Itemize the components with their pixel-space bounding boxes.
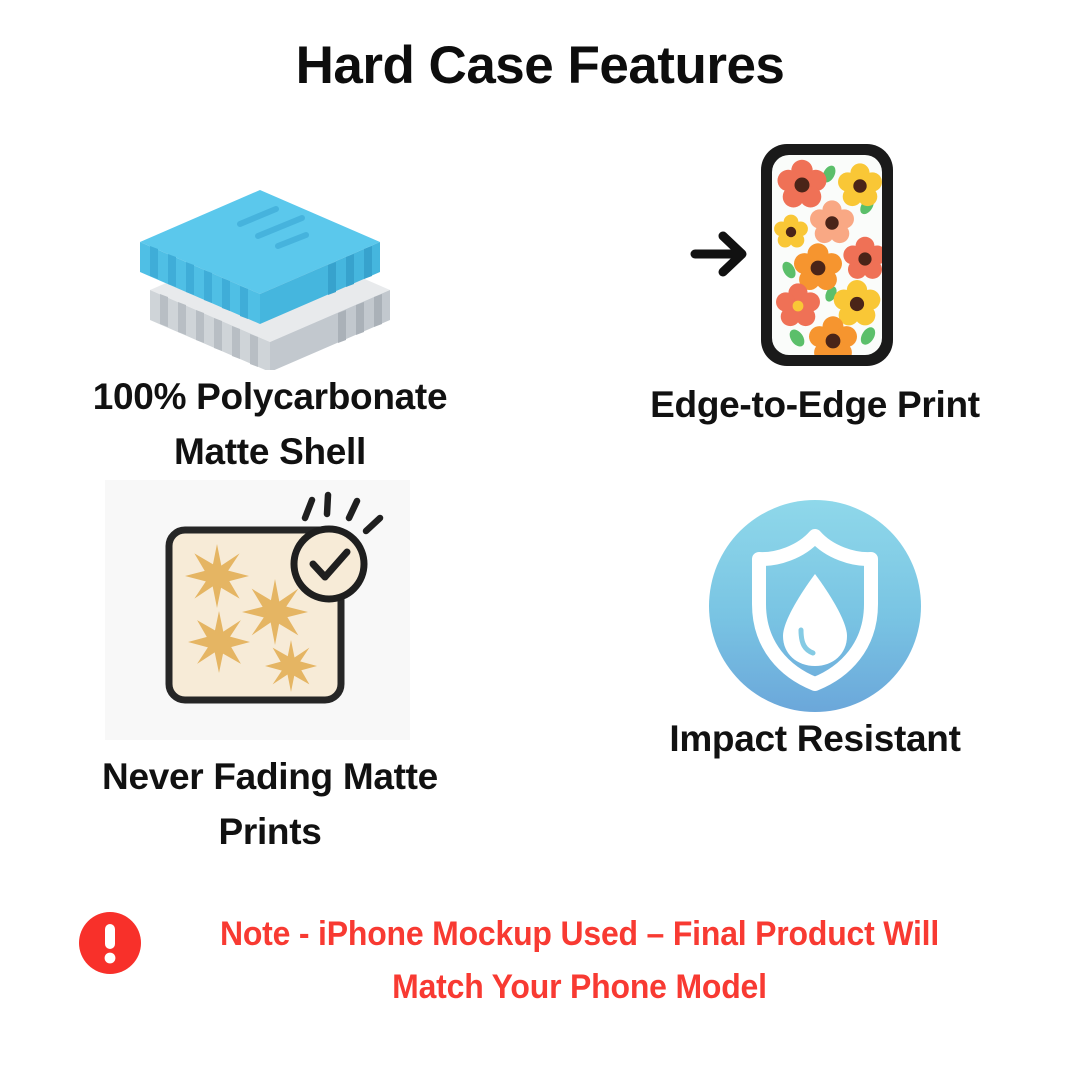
badge-rays [305,495,380,531]
check-badge-icon [294,495,380,599]
feature-never-fading-label-line1: Never Fading Matte [20,750,520,805]
feature-never-fading: Never Fading Matte Prints [20,470,520,860]
feature-polycarbonate-label: 100% Polycarbonate Matte Shell [20,370,520,480]
shield-droplet-icon [709,500,921,712]
note-row: Note - iPhone Mockup Used – Final Produc… [60,908,1020,1013]
layered-slabs-icon [120,150,420,370]
exclamation-circle-icon [79,912,141,974]
note-text: Note - iPhone Mockup Used – Final Produc… [182,908,976,1013]
feature-edge-print-art [570,128,1060,378]
feature-edge-print-label: Edge-to-Edge Print [570,378,1060,433]
feature-polycarbonate: 100% Polycarbonate Matte Shell [20,150,520,480]
feature-never-fading-label: Never Fading Matte Prints [20,750,520,860]
feature-impact-label-line1: Impact Resistant [570,712,1060,767]
fade-proof-print-check-icon [145,490,395,730]
feature-never-fading-art [20,470,520,750]
feature-impact-art [570,500,1060,712]
feature-edge-print: Edge-to-Edge Print [570,128,1060,433]
feature-never-fading-label-line2: Prints [20,805,520,860]
feature-impact-label: Impact Resistant [570,712,1060,767]
floral-phone-case-icon [685,128,945,378]
page-title: Hard Case Features [0,38,1080,94]
feature-edge-print-label-line1: Edge-to-Edge Print [570,378,1060,433]
feature-polycarbonate-art [20,150,520,370]
feature-impact: Impact Resistant [570,500,1060,767]
feature-polycarbonate-label-line1: 100% Polycarbonate [20,370,520,425]
arrow-right-icon [695,236,742,272]
